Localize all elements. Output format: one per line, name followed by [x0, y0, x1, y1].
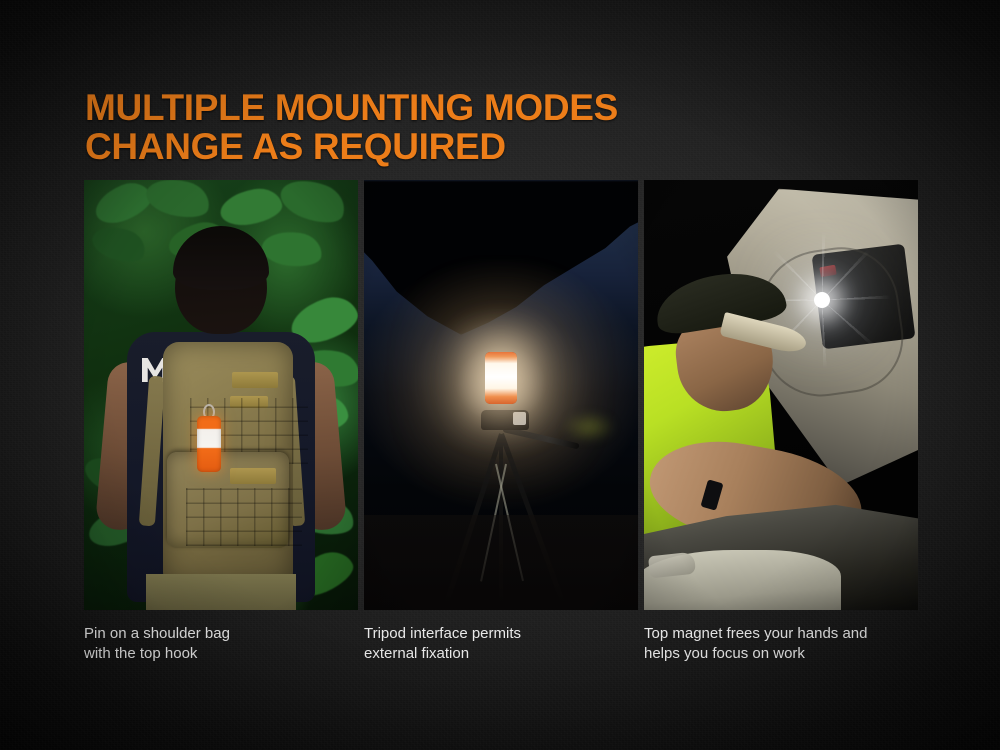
page-title: MULTIPLE MOUNTING MODES CHANGE AS REQUIR… — [85, 88, 785, 166]
foliage-leaf-icon — [143, 180, 214, 223]
foliage-leaf-icon — [275, 180, 350, 230]
car-headlight — [648, 551, 696, 578]
foliage-leaf-icon — [260, 228, 324, 270]
caption-shoulder-bag: Pin on a shoulder bag with the top hook — [84, 624, 358, 664]
image-panel-group — [84, 180, 918, 610]
lantern-light — [485, 352, 517, 404]
backpack-velcro-patch-top — [232, 372, 278, 388]
caption-group: Pin on a shoulder bag with the top hook … — [84, 624, 918, 664]
ground-foreground — [364, 515, 638, 610]
slide-canvas: MULTIPLE MOUNTING MODES CHANGE AS REQUIR… — [0, 0, 1000, 750]
caption-tripod-interface: Tripod interface permits external fixati… — [364, 624, 638, 664]
backpack-velcro-patch-lower — [230, 468, 276, 484]
panel-top-magnet — [644, 180, 918, 610]
molle-webbing-lower — [186, 488, 302, 546]
foliage-leaf-icon — [218, 185, 285, 229]
clipped-lantern-light — [197, 416, 221, 472]
panel-shoulder-bag — [84, 180, 358, 610]
caption-top-magnet: Top magnet frees your hands and helps yo… — [644, 624, 918, 664]
panel-tripod-interface — [364, 180, 638, 610]
foliage-leaf-icon — [90, 180, 157, 230]
tripod-locking-knob — [513, 412, 526, 425]
person-trousers — [146, 574, 296, 610]
lit-grass-patch — [562, 412, 616, 442]
hill-silhouette — [364, 180, 638, 335]
foliage-leaf-icon — [88, 220, 149, 267]
